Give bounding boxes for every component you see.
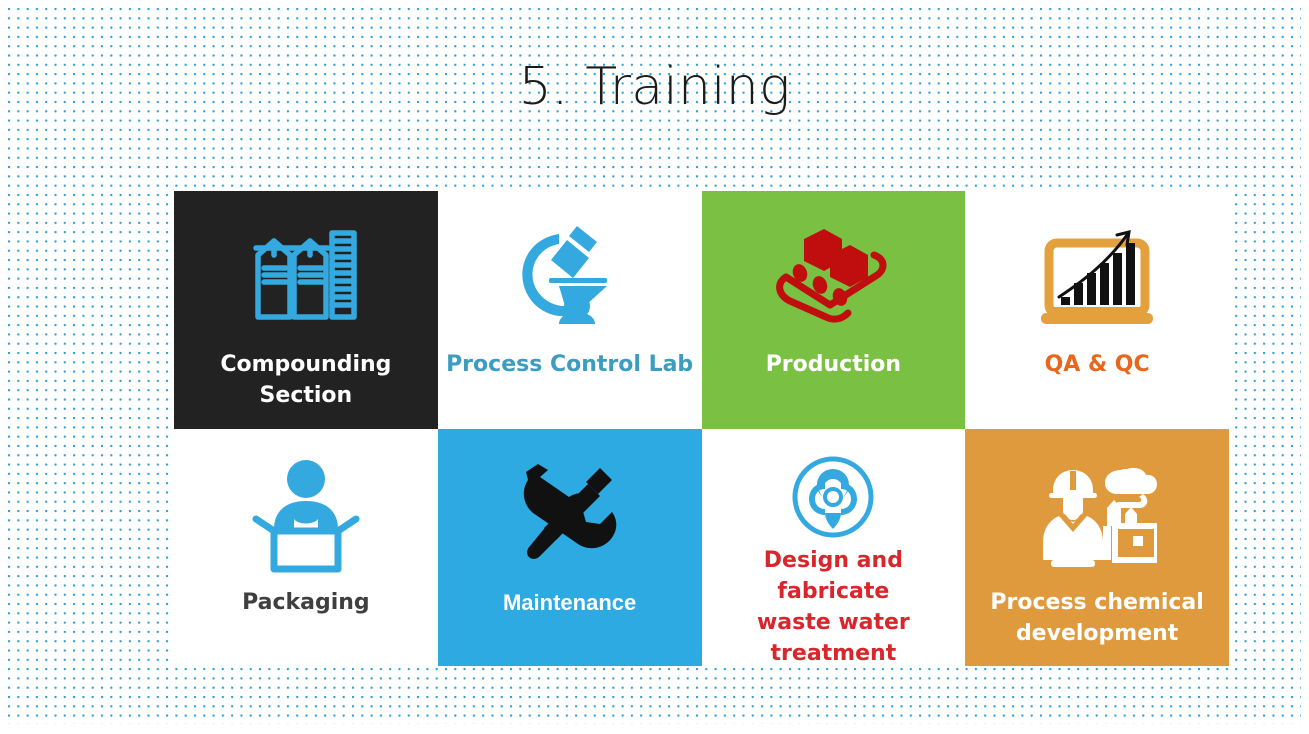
tile-label-packaging: Packaging <box>234 587 378 618</box>
tile-packaging[interactable]: Packaging <box>174 429 438 667</box>
laptop-bar-chart-icon <box>1035 213 1159 339</box>
tile-label-compounding-section: Compounding Section <box>212 349 399 411</box>
silo-tanks-icon <box>250 213 362 339</box>
tile-qa-qc[interactable]: QA & QC <box>965 191 1229 429</box>
training-areas-grid: Compounding Section Process Contr <box>174 191 1229 666</box>
tile-label-qa-qc: QA & QC <box>1037 349 1158 380</box>
slide-canvas: 5. Training Compoundi <box>0 0 1309 734</box>
biohazard-icon <box>791 455 875 539</box>
conveyor-hexagons-icon <box>768 213 898 339</box>
tile-process-chemical-development[interactable]: Process chemical development <box>965 429 1229 667</box>
microscope-icon <box>515 213 625 339</box>
person-in-box-icon <box>248 455 364 577</box>
tile-production[interactable]: Production <box>702 191 966 429</box>
tile-label-production: Production <box>758 349 909 380</box>
tile-process-control-lab[interactable]: Process Control Lab <box>438 191 702 429</box>
tile-compounding-section[interactable]: Compounding Section <box>174 191 438 429</box>
tile-waste-water-treatment[interactable]: Design and fabricate waste water treatme… <box>702 429 966 667</box>
tile-label-process-chemical-development: Process chemical development <box>982 587 1211 649</box>
wrench-screwdriver-icon <box>514 455 626 577</box>
worker-factory-icon <box>1037 455 1157 577</box>
tile-maintenance[interactable]: Maintenance <box>438 429 702 667</box>
tile-label-process-control-lab: Process Control Lab <box>438 349 701 380</box>
tile-label-maintenance: Maintenance <box>495 587 644 618</box>
page-title: 5. Training <box>0 57 1309 117</box>
tile-label-waste-water-treatment: Design and fabricate waste water treatme… <box>702 545 966 667</box>
